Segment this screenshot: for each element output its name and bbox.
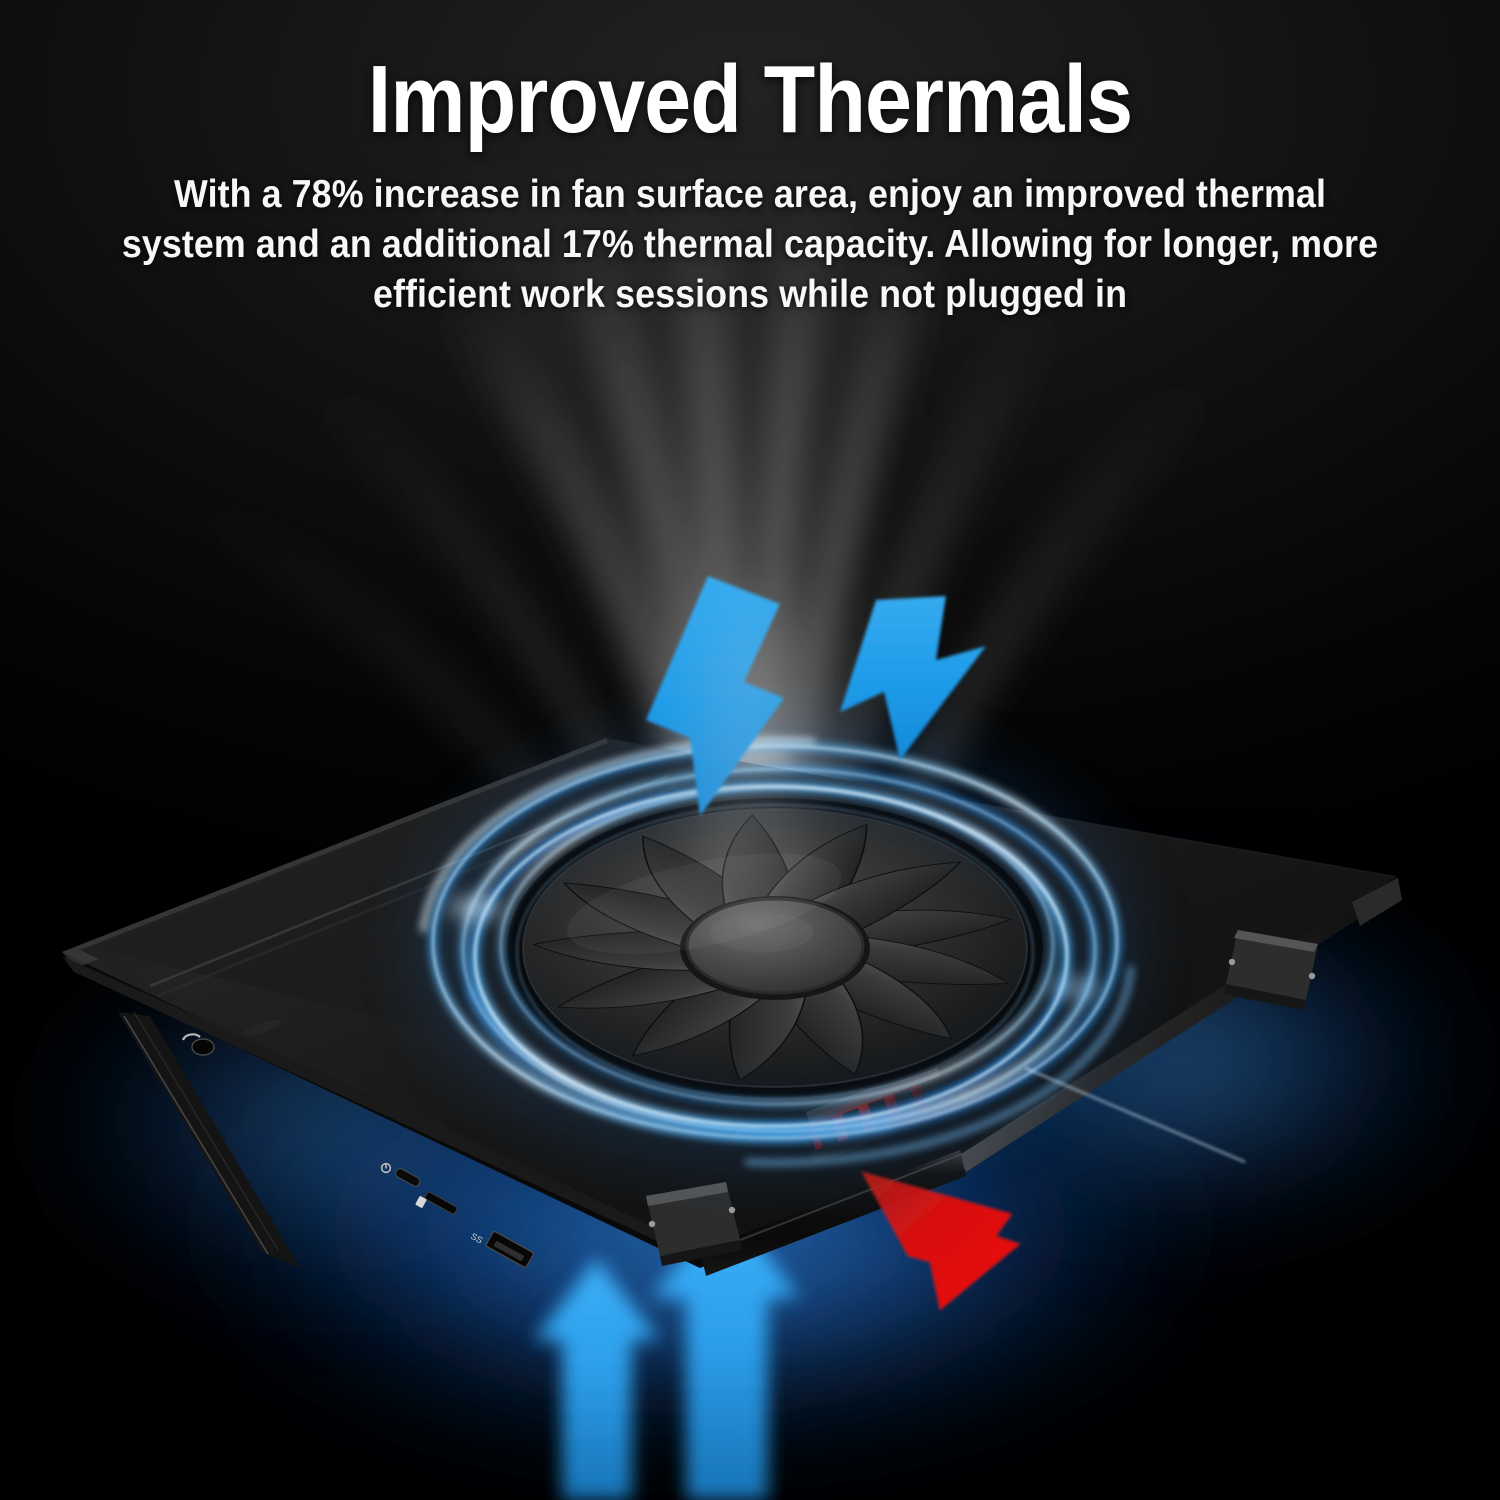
svg-text:M: M	[1111, 751, 1142, 763]
svg-text:K: K	[1207, 731, 1236, 743]
thermals-promo-scene: SS	[0, 0, 1500, 1500]
svg-text:F11: F11	[1458, 702, 1500, 717]
thermal-illustration: SS	[0, 0, 1500, 1500]
svg-text:O: O	[1307, 712, 1337, 724]
svg-text:I: I	[1247, 700, 1269, 711]
svg-text:U: U	[1179, 688, 1209, 700]
svg-text:0: 0	[1403, 691, 1430, 703]
svg-text:Prt Scr: Prt Scr	[1143, 795, 1187, 807]
svg-text:H: H	[1079, 707, 1109, 719]
svg-text:Enter: Enter	[1346, 757, 1394, 771]
svg-text:Insert: Insert	[1015, 771, 1058, 784]
svg-text:7: 7	[1211, 656, 1238, 668]
svg-text:G: G	[1014, 695, 1044, 707]
svg-text:F12: F12	[1427, 734, 1474, 749]
svg-text:Pause: Pause	[1077, 783, 1123, 796]
svg-text:B: B	[985, 728, 1014, 740]
foreground-haze	[696, 620, 800, 900]
svg-text:L: L	[1272, 743, 1299, 755]
svg-text:N: N	[1048, 740, 1078, 752]
svg-text:5: 5	[1083, 632, 1110, 644]
svg-text:Y: Y	[1115, 676, 1144, 688]
svg-text:3: 3	[955, 608, 982, 620]
svg-text:Scr lk: Scr lk	[1210, 807, 1248, 818]
svg-text:J: J	[1145, 719, 1171, 730]
svg-text:Backspace: Backspace	[1292, 785, 1369, 804]
svg-text:9: 9	[1339, 680, 1366, 692]
svg-text:P: P	[1372, 724, 1401, 736]
svg-text:6: 6	[1147, 644, 1174, 656]
svg-text:Delete: Delete	[1272, 819, 1314, 831]
svg-text:8: 8	[1275, 668, 1302, 680]
svg-text:T: T	[1052, 664, 1080, 676]
